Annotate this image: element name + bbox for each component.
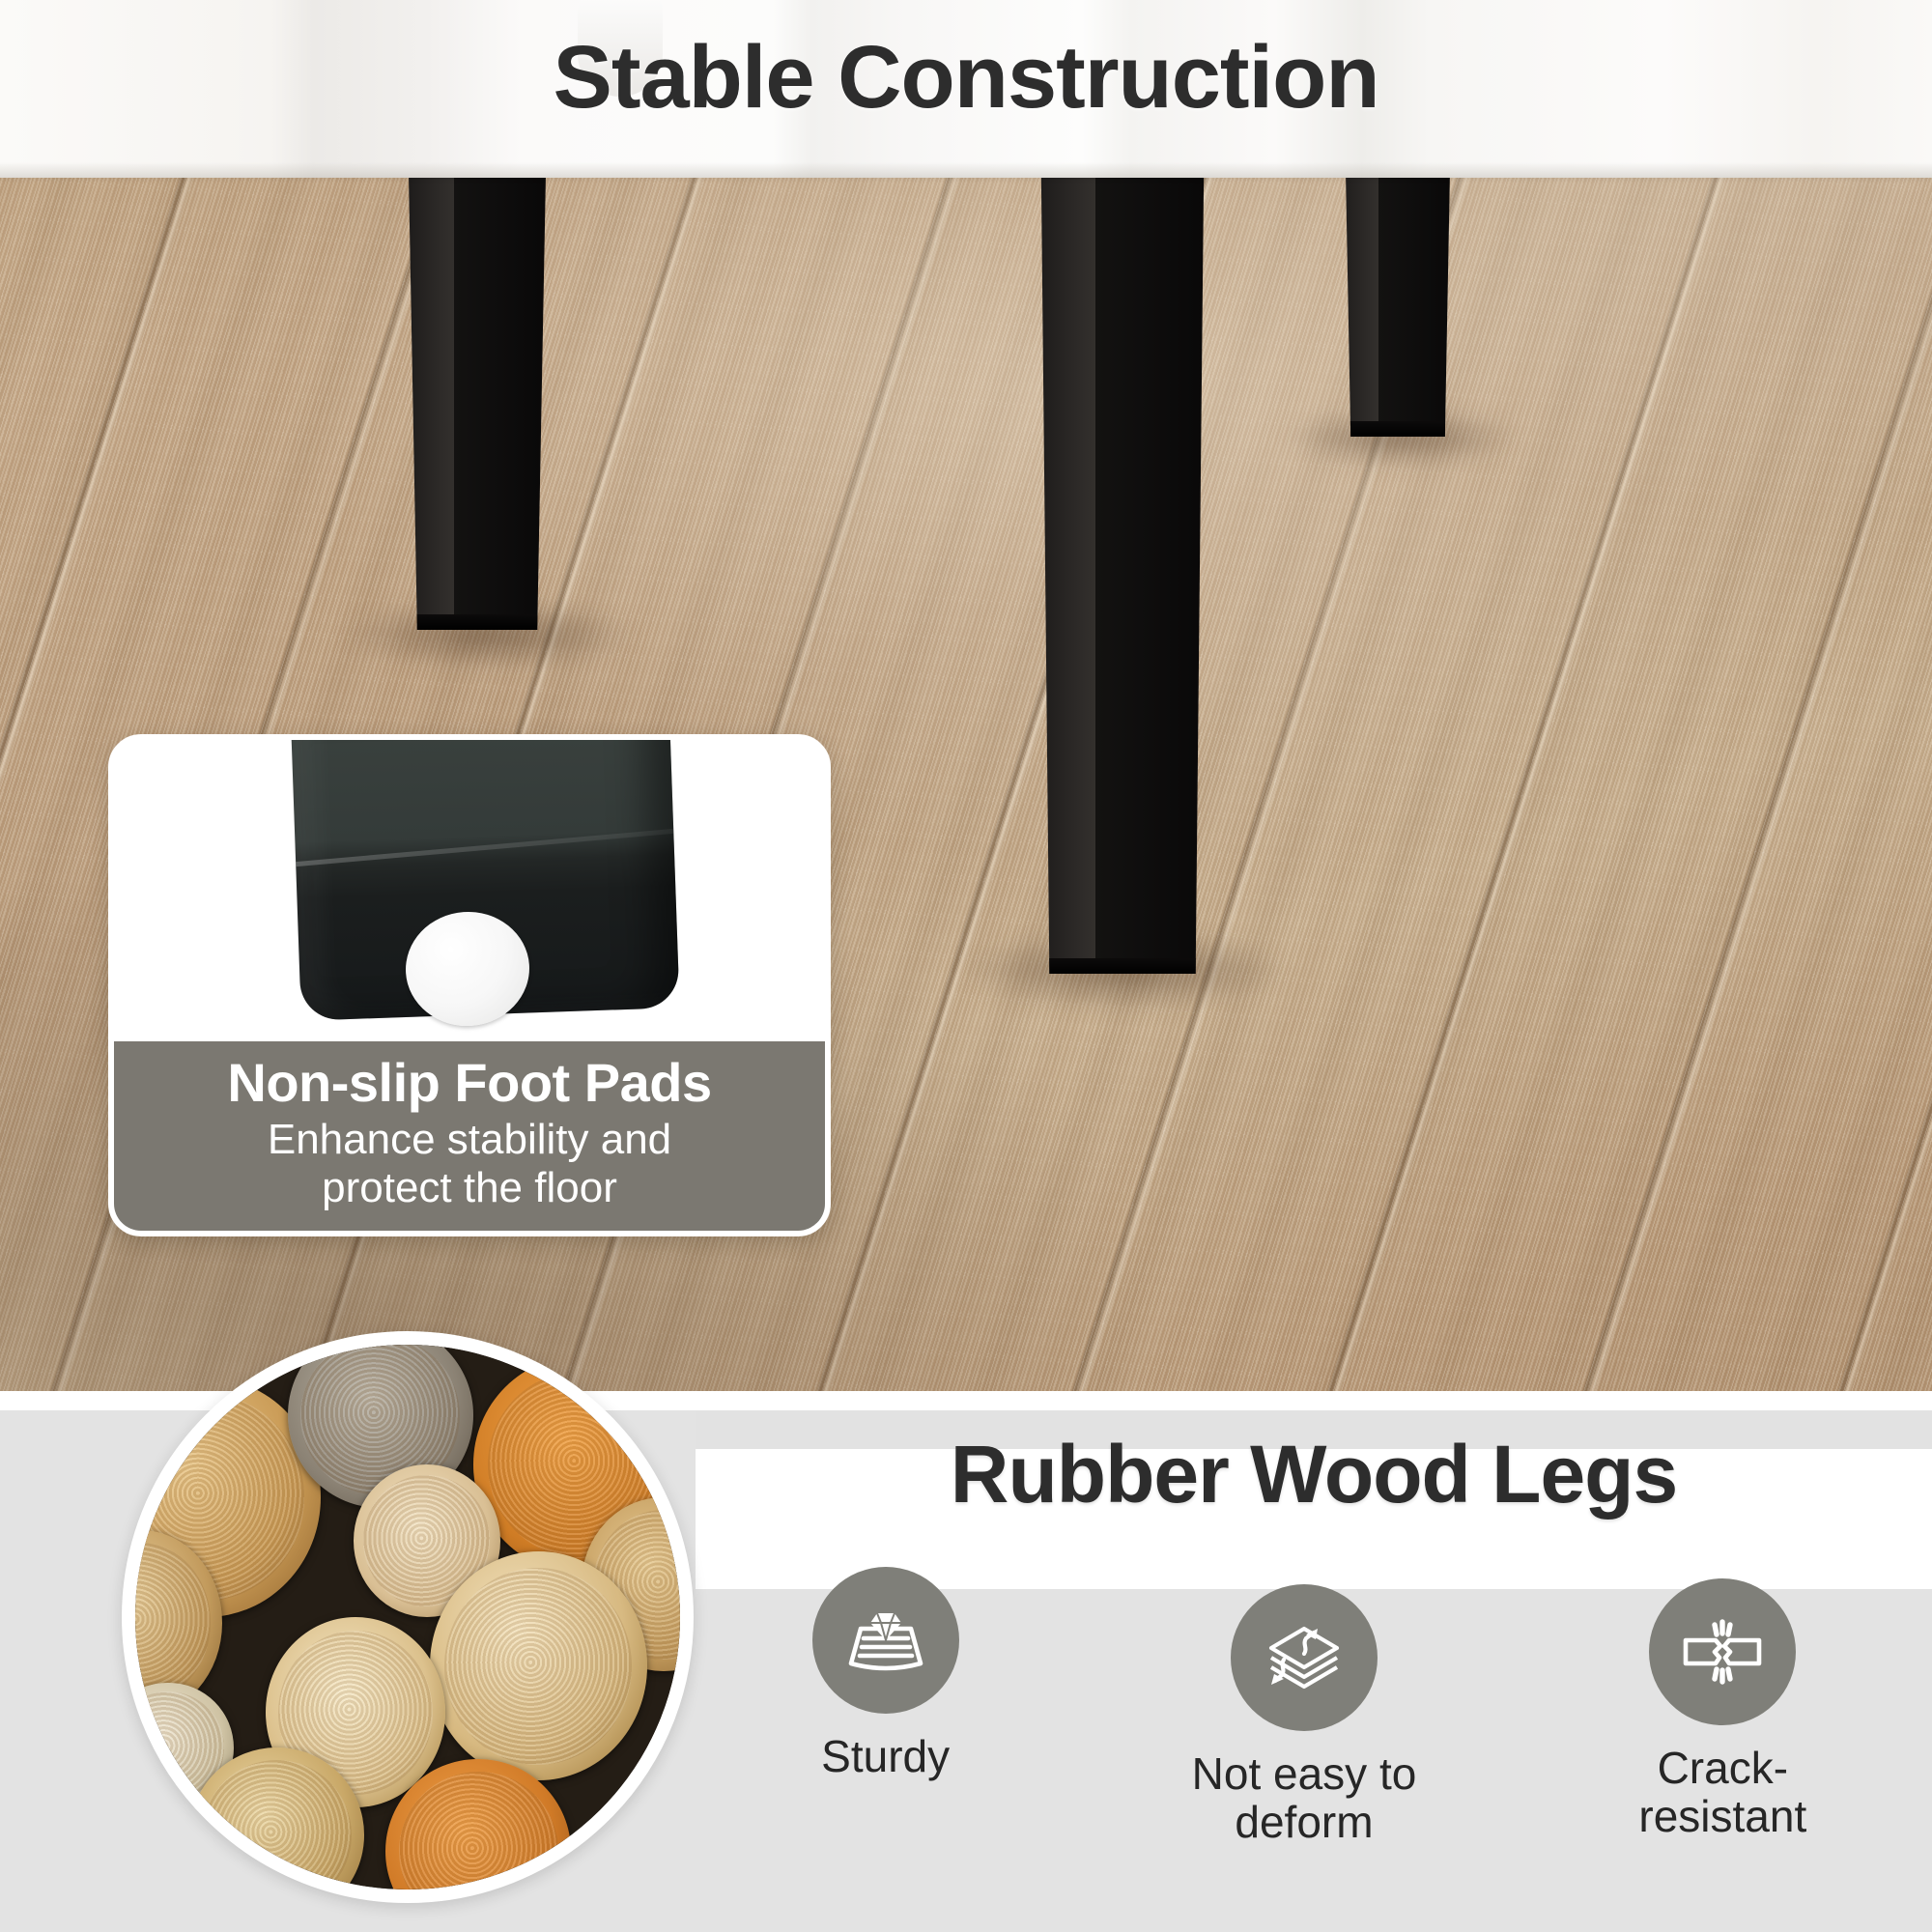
logs-photo-circle xyxy=(122,1331,694,1903)
cracking-block-icon xyxy=(1672,1602,1773,1702)
callout-subtitle: Enhance stability and protect the floor xyxy=(268,1116,671,1211)
leg-foot-cap xyxy=(1037,958,1207,974)
feature-item-not-easy-to-deform: Not easy to deform xyxy=(1145,1584,1463,1846)
feature-label-line2: deform xyxy=(1235,1797,1373,1847)
callout-title: Non-slip Foot Pads xyxy=(227,1055,711,1110)
feature-item-sturdy: Sturdy xyxy=(726,1567,1045,1781)
feature-label-line1: Sturdy xyxy=(821,1731,950,1781)
feature-label-line1: Crack- xyxy=(1658,1743,1788,1793)
feature-label-line1: Not easy to xyxy=(1192,1748,1417,1799)
foot-pad-photo xyxy=(114,740,825,1059)
feature-label: Crack- resistant xyxy=(1638,1745,1806,1840)
foot-pad-callout-card: Non-slip Foot Pads Enhance stability and… xyxy=(108,734,831,1236)
foot-pad-caption-band: Non-slip Foot Pads Enhance stability and… xyxy=(114,1041,825,1231)
diamond-on-platform-icon xyxy=(836,1590,936,1690)
feature-label: Sturdy xyxy=(821,1733,950,1781)
table-leg-center xyxy=(1037,145,1207,974)
page-title: Stable Construction xyxy=(0,27,1932,128)
feature-list: Sturdy xyxy=(676,1584,1932,1913)
table-leg-front xyxy=(406,172,549,630)
feature-label: Not easy to deform xyxy=(1192,1750,1417,1846)
feature-icon-badge xyxy=(1231,1584,1378,1731)
callout-subtitle-line2: protect the floor xyxy=(322,1164,617,1211)
leg-face-right xyxy=(1095,145,1207,974)
stable-construction-section: Stable Construction Non-slip Foot Pads E… xyxy=(0,0,1932,1391)
log xyxy=(430,1551,648,1780)
feature-icon-badge xyxy=(1649,1578,1796,1725)
leg-foot-cap xyxy=(1339,421,1457,437)
leg-face-right xyxy=(454,172,549,630)
callout-subtitle-line1: Enhance stability and xyxy=(268,1116,671,1163)
feature-label-line2: resistant xyxy=(1638,1791,1806,1841)
product-feature-graphic: Stable Construction Non-slip Foot Pads E… xyxy=(0,0,1932,1932)
stacked-layers-arrows-icon xyxy=(1254,1607,1354,1708)
feature-icon-badge xyxy=(812,1567,959,1714)
logs-photo xyxy=(135,1345,680,1889)
feature-item-crack-resistant: Crack- resistant xyxy=(1563,1578,1882,1840)
leg-foot-cap xyxy=(406,614,549,630)
bottom-section-title: Rubber Wood Legs xyxy=(696,1428,1932,1521)
